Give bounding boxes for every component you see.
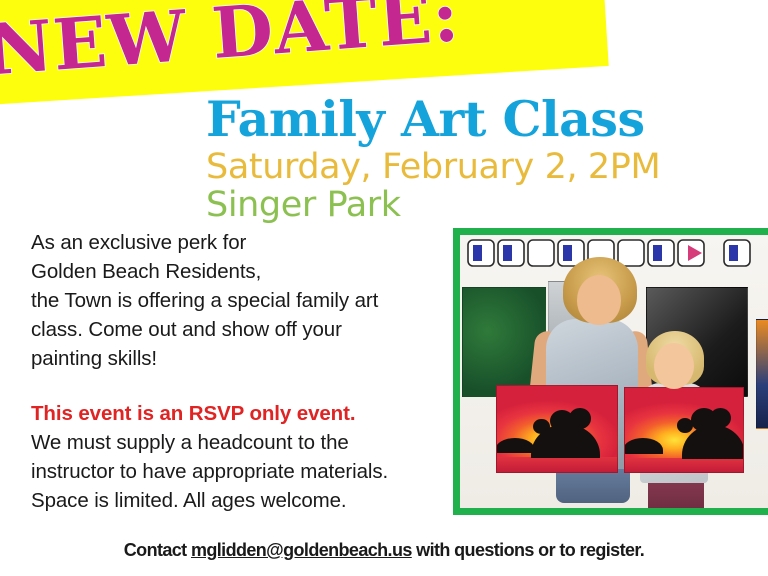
paragraph-two-line: We must supply a headcount to the [31,428,441,457]
sunset-painting-left [496,385,618,473]
paragraph-one-line: painting skills! [31,344,441,373]
paragraph-one-line: As an exclusive perk for [31,228,441,257]
paragraph-one-line: Golden Beach Residents, [31,257,441,286]
painting-water [625,458,743,472]
paragraph-one-line: class. Come out and show off your [31,315,441,344]
contact-email-link[interactable]: mglidden@goldenbeach.us [191,540,412,560]
wall-canvas-edge [756,319,768,429]
photo-inner [460,235,768,508]
adult-face [577,275,621,325]
flyer-page: NEW DATE: Family Art Class Saturday, Feb… [0,0,768,576]
sunset-painting-right [624,387,744,473]
paragraph-spacer [31,373,441,399]
painting-water [497,457,617,472]
painting-tree [710,408,731,428]
painting-tree [533,419,550,434]
painting-tree [569,408,591,429]
paragraph-two-line: instructor to have appropriate materials… [31,457,441,486]
contact-suffix: with questions or to register. [412,540,644,560]
paragraph-two: This event is an RSVP only event. We mus… [31,399,441,515]
event-location: Singer Park [206,186,660,224]
painting-islet [624,438,663,453]
event-title: Family Art Class [206,92,660,146]
contact-line: Contact mglidden@goldenbeach.us with que… [0,538,768,562]
paragraph-one-line: the Town is offering a special family ar… [31,286,441,315]
child-face [654,343,694,389]
paragraph-one: As an exclusive perk for Golden Beach Re… [31,228,441,373]
body-copy: As an exclusive perk for Golden Beach Re… [31,228,441,515]
painting-islet [496,438,535,453]
event-photo [453,228,768,515]
paragraph-two-line: Space is limited. All ages welcome. [31,486,441,515]
painting-tree [677,418,694,433]
title-block: Family Art Class Saturday, February 2, 2… [206,92,660,224]
contact-prefix: Contact [124,540,191,560]
rsvp-notice: This event is an RSVP only event. [31,399,441,428]
event-date: Saturday, February 2, 2PM [206,148,660,186]
